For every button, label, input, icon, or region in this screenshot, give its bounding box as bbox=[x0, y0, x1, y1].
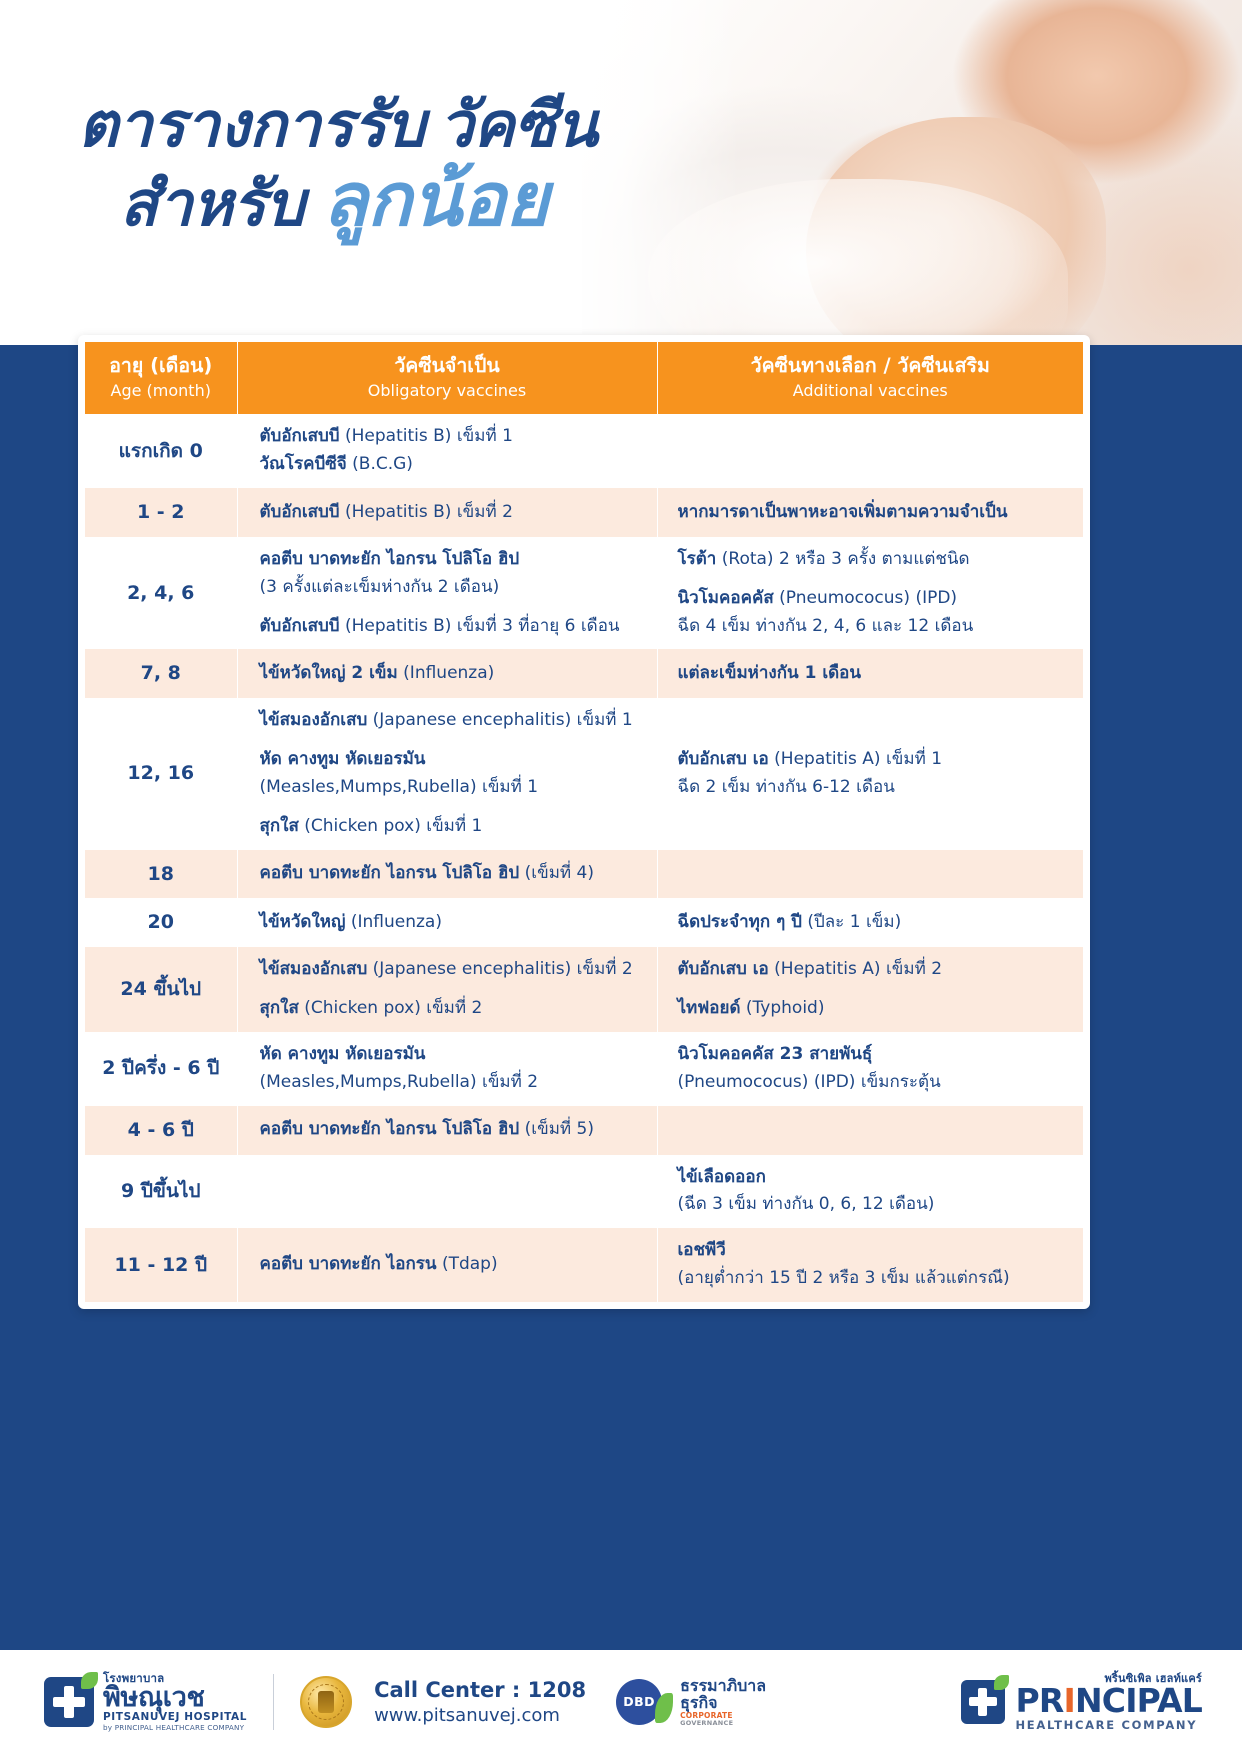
vaccine-name-th: ไข้หวัดใหญ่ bbox=[260, 912, 346, 932]
cell-obligatory-vaccines: ตับอักเสบบี (Hepatitis B) เข็มที่ 1วัณโร… bbox=[237, 414, 657, 488]
vaccine-line: ฉีด 4 เข็ม ท่างกัน 2, 4, 6 และ 12 เดือน bbox=[678, 614, 1076, 640]
vaccine-detail: (Tdap) bbox=[442, 1254, 498, 1274]
principal-healthcare-logo: พริ้นซิเพิล เฮลท์แคร์ PRINCIPAL HEALTHCA… bbox=[961, 1673, 1202, 1732]
vaccine-line: วัณโรคบีซีจี (B.C.G) bbox=[260, 452, 649, 478]
line-gap bbox=[260, 983, 649, 996]
vaccine-line: ไข้เลือดออก bbox=[678, 1165, 1076, 1191]
vaccine-line: ไข้หวัดใหญ่ 2 เข็ม (Influenza) bbox=[260, 661, 649, 687]
table-row: 12, 16ไข้สมองอักเสบ (Japanese encephalit… bbox=[85, 698, 1083, 849]
cell-age: 7, 8 bbox=[85, 649, 237, 698]
vaccine-detail: (Hepatitis A) เข็มที่ 2 bbox=[774, 959, 942, 979]
vaccine-detail: (Japanese encephalitis) เข็มที่ 2 bbox=[373, 959, 633, 979]
cell-age: 1 - 2 bbox=[85, 488, 237, 537]
vaccine-line: ไทฟอยด์ (Typhoid) bbox=[678, 996, 1076, 1022]
vaccine-detail: (Hepatitis B) เข็มที่ 2 bbox=[345, 502, 513, 522]
line-gap bbox=[260, 601, 649, 614]
cell-obligatory-vaccines: ไข้หวัดใหญ่ 2 เข็ม (Influenza) bbox=[237, 649, 657, 698]
cell-obligatory-vaccines: คอตีบ บาดทะยัก ไอกรน โปลิโอ ฮิป (เข็มที่… bbox=[237, 850, 657, 899]
cell-obligatory-vaccines: คอตีบ บาดทะยัก ไอกรน (Tdap) bbox=[237, 1228, 657, 1302]
table-row: 7, 8ไข้หวัดใหญ่ 2 เข็ม (Influenza)แต่ละเ… bbox=[85, 649, 1083, 698]
cell-additional-vaccines bbox=[657, 850, 1083, 899]
vaccine-detail: (3 ครั้งแต่ละเข็มห่างกัน 2 เดือน) bbox=[260, 577, 500, 597]
vaccine-detail: (ฉีด 3 เข็ม ท่างกัน 0, 6, 12 เดือน) bbox=[678, 1194, 935, 1214]
vaccine-line: ไข้สมองอักเสบ (Japanese encephalitis) เข… bbox=[260, 957, 649, 983]
vaccine-detail: (Japanese encephalitis) เข็มที่ 1 bbox=[373, 710, 633, 730]
medical-cross-icon bbox=[44, 1677, 94, 1727]
vaccine-name-th: ฉีดประจำทุก ๆ ปี bbox=[678, 912, 802, 932]
cell-additional-vaccines: เอชพีวี(อายุต่ำกว่า 15 ปี 2 หรือ 3 เข็ม … bbox=[657, 1228, 1083, 1302]
vaccine-name-th: ตับอักเสบ เอ bbox=[678, 959, 769, 979]
column-header-obligatory: วัคซีนจำเป็น Obligatory vaccines bbox=[237, 342, 657, 414]
vaccine-detail: ฉีด 2 เข็ม ท่างกัน 6-12 เดือน bbox=[678, 777, 895, 797]
vaccine-line: หัด คางทูม หัดเยอรมัน bbox=[260, 1042, 649, 1068]
vaccine-detail: (Chicken pox) เข็มที่ 1 bbox=[304, 816, 482, 836]
cell-age: แรกเกิด 0 bbox=[85, 414, 237, 488]
cell-obligatory-vaccines: หัด คางทูม หัดเยอรมัน(Measles,Mumps,Rube… bbox=[237, 1032, 657, 1106]
website-link[interactable]: www.pitsanuvej.com bbox=[374, 1704, 586, 1728]
vaccine-name-th: ไข้สมองอักเสบ bbox=[260, 710, 368, 730]
vaccine-name-th: แต่ละเข็มห่างกัน 1 เดือน bbox=[678, 663, 862, 683]
dbd-line2: ธุรกิจ bbox=[680, 1694, 766, 1712]
vaccine-line: ตับอักเสบบี (Hepatitis B) เข็มที่ 1 bbox=[260, 424, 649, 450]
title-word-for: สำหรับ bbox=[120, 167, 304, 240]
cell-obligatory-vaccines bbox=[237, 1155, 657, 1229]
vaccine-name-th: เอชพีวี bbox=[678, 1240, 726, 1260]
vaccine-line: (Pneumococus) (IPD) เข็มกระตุ้น bbox=[678, 1070, 1076, 1096]
vaccine-name-th: หัด คางทูม หัดเยอรมัน bbox=[260, 1044, 426, 1064]
cell-age: 24 ขึ้นไป bbox=[85, 947, 237, 1032]
table-row: 11 - 12 ปีคอตีบ บาดทะยัก ไอกรน (Tdap)เอช… bbox=[85, 1228, 1083, 1302]
vaccine-line: เอชพีวี bbox=[678, 1238, 1076, 1264]
vaccine-line: (Measles,Mumps,Rubella) เข็มที่ 1 bbox=[260, 775, 649, 801]
vaccine-name-th: สุกใส bbox=[260, 816, 299, 836]
vaccine-name-th: สุกใส bbox=[260, 998, 299, 1018]
vaccine-schedule-card: อายุ (เดือน) Age (month) วัคซีนจำเป็น Ob… bbox=[78, 335, 1090, 1309]
line-gap bbox=[260, 801, 649, 814]
title-word-child: ลูกน้อย bbox=[322, 157, 548, 243]
vaccine-line: ไข้หวัดใหญ่ (Influenza) bbox=[260, 910, 649, 936]
dbd-logo-text: ธรรมาภิบาล ธุรกิจ CORPORATE GOVERNANCE bbox=[680, 1677, 766, 1728]
cell-age: 12, 16 bbox=[85, 698, 237, 849]
pitsanuvej-tagline: by PRINCIPAL HEALTHCARE COMPANY bbox=[103, 1724, 247, 1732]
cell-age: 20 bbox=[85, 898, 237, 947]
dbd-line4: GOVERNANCE bbox=[680, 1720, 766, 1727]
table-row: 20ไข้หวัดใหญ่ (Influenza)ฉีดประจำทุก ๆ ป… bbox=[85, 898, 1083, 947]
vaccine-name-th: หากมารดาเป็นพาหะอาจเพิ่มตามความจำเป็น bbox=[678, 502, 1008, 522]
vaccine-detail: (Measles,Mumps,Rubella) เข็มที่ 2 bbox=[260, 1072, 539, 1092]
cell-additional-vaccines: นิวโมคอคคัส 23 สายพันธุ์(Pneumococus) (I… bbox=[657, 1032, 1083, 1106]
cell-age: 2 ปีครึ่ง - 6 ปี bbox=[85, 1032, 237, 1106]
column-header-additional: วัคซีนทางเลือก / วัคซีนเสริม Additional … bbox=[657, 342, 1083, 414]
principal-tagline: HEALTHCARE COMPANY bbox=[1015, 1719, 1202, 1731]
table-header: อายุ (เดือน) Age (month) วัคซีนจำเป็น Ob… bbox=[85, 342, 1083, 414]
vaccine-detail: (Influenza) bbox=[403, 663, 494, 683]
pitsanuvej-name: พิษณุเวช bbox=[103, 1684, 247, 1712]
vaccine-line: ฉีด 2 เข็ม ท่างกัน 6-12 เดือน bbox=[678, 775, 1076, 801]
dbd-line1: ธรรมาภิบาล bbox=[680, 1677, 766, 1695]
award-seal-icon bbox=[300, 1676, 352, 1728]
vaccine-line: สุกใส (Chicken pox) เข็มที่ 2 bbox=[260, 996, 649, 1022]
vaccine-line: นิวโมคอคคัส (Pneumococus) (IPD) bbox=[678, 586, 1076, 612]
vaccine-name-th: วัณโรคบีซีจี bbox=[260, 454, 347, 474]
vaccine-name-th: คอตีบ บาดทะยัก ไอกรน bbox=[260, 1254, 437, 1274]
cell-additional-vaccines bbox=[657, 1106, 1083, 1155]
contact-info: Call Center : 1208 www.pitsanuvej.com bbox=[374, 1676, 586, 1729]
cell-additional-vaccines: หากมารดาเป็นพาหะอาจเพิ่มตามความจำเป็น bbox=[657, 488, 1083, 537]
page-title-line2: สำหรับลูกน้อย bbox=[120, 157, 598, 244]
cell-age: 9 ปีขึ้นไป bbox=[85, 1155, 237, 1229]
vaccine-detail: (ปีละ 1 เข็ม) bbox=[807, 912, 901, 932]
pitsanuvej-logo: โรงพยาบาล พิษณุเวช PITSANUVEJ HOSPITAL b… bbox=[44, 1672, 247, 1732]
title-word-schedule: ตารางการรับ bbox=[78, 88, 425, 161]
title-word-vaccine: วัคซีน bbox=[439, 88, 598, 161]
table-row: แรกเกิด 0ตับอักเสบบี (Hepatitis B) เข็มท… bbox=[85, 414, 1083, 488]
table-row: 2 ปีครึ่ง - 6 ปีหัด คางทูม หัดเยอรมัน(Me… bbox=[85, 1032, 1083, 1106]
cell-additional-vaccines: ตับอักเสบ เอ (Hepatitis A) เข็มที่ 2ไทฟอ… bbox=[657, 947, 1083, 1032]
cell-additional-vaccines: โรต้า (Rota) 2 หรือ 3 ครั้ง ตามแต่ชนิดนิ… bbox=[657, 537, 1083, 649]
vaccine-schedule-table: อายุ (เดือน) Age (month) วัคซีนจำเป็น Ob… bbox=[85, 342, 1083, 1302]
vaccine-detail: (Hepatitis B) เข็มที่ 3 ที่อายุ 6 เดือน bbox=[345, 616, 620, 636]
footer-logo-bar: โรงพยาบาล พิษณุเวช PITSANUVEJ HOSPITAL b… bbox=[0, 1650, 1242, 1754]
line-gap bbox=[260, 734, 649, 747]
vaccine-detail: (Hepatitis A) เข็มที่ 1 bbox=[774, 749, 942, 769]
vaccine-name-th: ไข้สมองอักเสบ bbox=[260, 959, 368, 979]
vaccine-line: คอตีบ บาดทะยัก ไอกรน (Tdap) bbox=[260, 1252, 649, 1278]
call-center-text: Call Center : 1208 bbox=[374, 1676, 586, 1704]
vaccine-detail: (Chicken pox) เข็มที่ 2 bbox=[304, 998, 482, 1018]
line-gap bbox=[678, 573, 1076, 586]
cell-age: 11 - 12 ปี bbox=[85, 1228, 237, 1302]
table-row: 24 ขึ้นไปไข้สมองอักเสบ (Japanese encepha… bbox=[85, 947, 1083, 1032]
principal-cross-icon bbox=[961, 1680, 1005, 1724]
vaccine-detail: (B.C.G) bbox=[352, 454, 413, 474]
table-header-row: อายุ (เดือน) Age (month) วัคซีนจำเป็น Ob… bbox=[85, 342, 1083, 414]
vaccine-line: หัด คางทูม หัดเยอรมัน bbox=[260, 747, 649, 773]
column-header-age: อายุ (เดือน) Age (month) bbox=[85, 342, 237, 414]
cell-obligatory-vaccines: ไข้หวัดใหญ่ (Influenza) bbox=[237, 898, 657, 947]
vaccine-line: (Measles,Mumps,Rubella) เข็มที่ 2 bbox=[260, 1070, 649, 1096]
vaccine-name-th: คอตีบ บาดทะยัก ไอกรน โปลิโอ ฮิป bbox=[260, 549, 520, 569]
table-body: แรกเกิด 0ตับอักเสบบี (Hepatitis B) เข็มท… bbox=[85, 414, 1083, 1301]
principal-name-en: PRINCIPAL bbox=[1015, 1684, 1202, 1719]
page-title: ตารางการรับวัคซีน สำหรับลูกน้อย bbox=[78, 92, 598, 244]
vaccine-name-th: ตับอักเสบบี bbox=[260, 616, 340, 636]
vaccine-name-th: ไข้เลือดออก bbox=[678, 1167, 766, 1187]
pitsanuvej-logo-text: โรงพยาบาล พิษณุเวช PITSANUVEJ HOSPITAL b… bbox=[103, 1672, 247, 1732]
vaccine-line: โรต้า (Rota) 2 หรือ 3 ครั้ง ตามแต่ชนิด bbox=[678, 547, 1076, 573]
vaccine-line: (อายุต่ำกว่า 15 ปี 2 หรือ 3 เข็ม แล้วแต่… bbox=[678, 1266, 1076, 1292]
vaccine-name-th: ไข้หวัดใหญ่ 2 เข็ม bbox=[260, 663, 398, 683]
vaccine-line: (ฉีด 3 เข็ม ท่างกัน 0, 6, 12 เดือน) bbox=[678, 1192, 1076, 1218]
dbd-governance-logo: DBD ธรรมาภิบาล ธุรกิจ CORPORATE GOVERNAN… bbox=[616, 1677, 766, 1728]
vaccine-detail: (เข็มที่ 5) bbox=[525, 1119, 594, 1139]
footer-divider-1 bbox=[273, 1674, 274, 1730]
vaccine-name-th: ตับอักเสบบี bbox=[260, 502, 340, 522]
table-row: 18คอตีบ บาดทะยัก ไอกรน โปลิโอ ฮิป (เข็มท… bbox=[85, 850, 1083, 899]
cell-obligatory-vaccines: คอตีบ บาดทะยัก ไอกรน โปลิโอ ฮิป (เข็มที่… bbox=[237, 1106, 657, 1155]
vaccine-line: แต่ละเข็มห่างกัน 1 เดือน bbox=[678, 661, 1076, 687]
cell-age: 4 - 6 ปี bbox=[85, 1106, 237, 1155]
vaccine-line: นิวโมคอคคัส 23 สายพันธุ์ bbox=[678, 1042, 1076, 1068]
cell-obligatory-vaccines: คอตีบ บาดทะยัก ไอกรน โปลิโอ ฮิป(3 ครั้งแ… bbox=[237, 537, 657, 649]
vaccine-name-th: ตับอักเสบบี bbox=[260, 426, 340, 446]
vaccine-detail: (อายุต่ำกว่า 15 ปี 2 หรือ 3 เข็ม แล้วแต่… bbox=[678, 1268, 1010, 1288]
vaccine-detail: (Pneumococus) (IPD) เข็มกระตุ้น bbox=[678, 1072, 941, 1092]
vaccine-line: คอตีบ บาดทะยัก ไอกรน โปลิโอ ฮิป (เข็มที่… bbox=[260, 861, 649, 887]
vaccine-name-th: โรต้า bbox=[678, 549, 717, 569]
vaccine-name-th: นิวโมคอคคัส 23 สายพันธุ์ bbox=[678, 1044, 873, 1064]
cell-additional-vaccines: แต่ละเข็มห่างกัน 1 เดือน bbox=[657, 649, 1083, 698]
vaccine-name-th: หัด คางทูม หัดเยอรมัน bbox=[260, 749, 426, 769]
table-row: 4 - 6 ปีคอตีบ บาดทะยัก ไอกรน โปลิโอ ฮิป … bbox=[85, 1106, 1083, 1155]
vaccine-line: ตับอักเสบบี (Hepatitis B) เข็มที่ 2 bbox=[260, 500, 649, 526]
cell-additional-vaccines: ตับอักเสบ เอ (Hepatitis A) เข็มที่ 1ฉีด … bbox=[657, 698, 1083, 849]
vaccine-line: (3 ครั้งแต่ละเข็มห่างกัน 2 เดือน) bbox=[260, 575, 649, 601]
table-row: 9 ปีขึ้นไปไข้เลือดออก(ฉีด 3 เข็ม ท่างกัน… bbox=[85, 1155, 1083, 1229]
cell-additional-vaccines bbox=[657, 414, 1083, 488]
vaccine-name-th: ตับอักเสบ เอ bbox=[678, 749, 769, 769]
vaccine-detail: (Influenza) bbox=[351, 912, 442, 932]
vaccine-detail: (Pneumococus) (IPD) bbox=[779, 588, 957, 608]
vaccine-line: สุกใส (Chicken pox) เข็มที่ 1 bbox=[260, 814, 649, 840]
pitsanuvej-name-en: PITSANUVEJ HOSPITAL bbox=[103, 1712, 247, 1723]
vaccine-line: ตับอักเสบ เอ (Hepatitis A) เข็มที่ 2 bbox=[678, 957, 1076, 983]
vaccine-line: หากมารดาเป็นพาหะอาจเพิ่มตามความจำเป็น bbox=[678, 500, 1076, 526]
vaccine-name-th: คอตีบ บาดทะยัก ไอกรน โปลิโอ ฮิป bbox=[260, 1119, 520, 1139]
vaccine-name-th: คอตีบ บาดทะยัก ไอกรน โปลิโอ ฮิป bbox=[260, 863, 520, 883]
page-title-line1: ตารางการรับวัคซีน bbox=[78, 92, 598, 157]
vaccine-name-th: ไทฟอยด์ bbox=[678, 998, 741, 1018]
line-gap bbox=[678, 983, 1076, 996]
vaccine-detail: (Typhoid) bbox=[746, 998, 825, 1018]
vaccine-line: คอตีบ บาดทะยัก ไอกรน โปลิโอ ฮิป bbox=[260, 547, 649, 573]
vaccine-line: คอตีบ บาดทะยัก ไอกรน โปลิโอ ฮิป (เข็มที่… bbox=[260, 1117, 649, 1143]
cell-additional-vaccines: ไข้เลือดออก(ฉีด 3 เข็ม ท่างกัน 0, 6, 12 … bbox=[657, 1155, 1083, 1229]
footer: โรงพยาบาล พิษณุเวช PITSANUVEJ HOSPITAL b… bbox=[0, 1624, 1242, 1754]
vaccine-detail: (Hepatitis B) เข็มที่ 1 bbox=[345, 426, 513, 446]
vaccine-detail: (Rota) 2 หรือ 3 ครั้ง ตามแต่ชนิด bbox=[722, 549, 970, 569]
vaccine-line: ฉีดประจำทุก ๆ ปี (ปีละ 1 เข็ม) bbox=[678, 910, 1076, 936]
cell-obligatory-vaccines: ตับอักเสบบี (Hepatitis B) เข็มที่ 2 bbox=[237, 488, 657, 537]
vaccine-detail: (Measles,Mumps,Rubella) เข็มที่ 1 bbox=[260, 777, 539, 797]
cell-obligatory-vaccines: ไข้สมองอักเสบ (Japanese encephalitis) เข… bbox=[237, 947, 657, 1032]
table-row: 2, 4, 6คอตีบ บาดทะยัก ไอกรน โปลิโอ ฮิป(3… bbox=[85, 537, 1083, 649]
vaccine-line: ตับอักเสบบี (Hepatitis B) เข็มที่ 3 ที่อ… bbox=[260, 614, 649, 640]
cell-age: 18 bbox=[85, 850, 237, 899]
vaccine-name-th: นิวโมคอคคัส bbox=[678, 588, 774, 608]
vaccine-detail: ฉีด 4 เข็ม ท่างกัน 2, 4, 6 และ 12 เดือน bbox=[678, 616, 974, 636]
vaccine-line: ตับอักเสบ เอ (Hepatitis A) เข็มที่ 1 bbox=[678, 747, 1076, 773]
vaccine-detail: (เข็มที่ 4) bbox=[525, 863, 594, 883]
cell-age: 2, 4, 6 bbox=[85, 537, 237, 649]
cell-additional-vaccines: ฉีดประจำทุก ๆ ปี (ปีละ 1 เข็ม) bbox=[657, 898, 1083, 947]
table-row: 1 - 2ตับอักเสบบี (Hepatitis B) เข็มที่ 2… bbox=[85, 488, 1083, 537]
cell-obligatory-vaccines: ไข้สมองอักเสบ (Japanese encephalitis) เข… bbox=[237, 698, 657, 849]
principal-logo-text: พริ้นซิเพิล เฮลท์แคร์ PRINCIPAL HEALTHCA… bbox=[1015, 1673, 1202, 1732]
vaccine-line: ไข้สมองอักเสบ (Japanese encephalitis) เข… bbox=[260, 708, 649, 734]
